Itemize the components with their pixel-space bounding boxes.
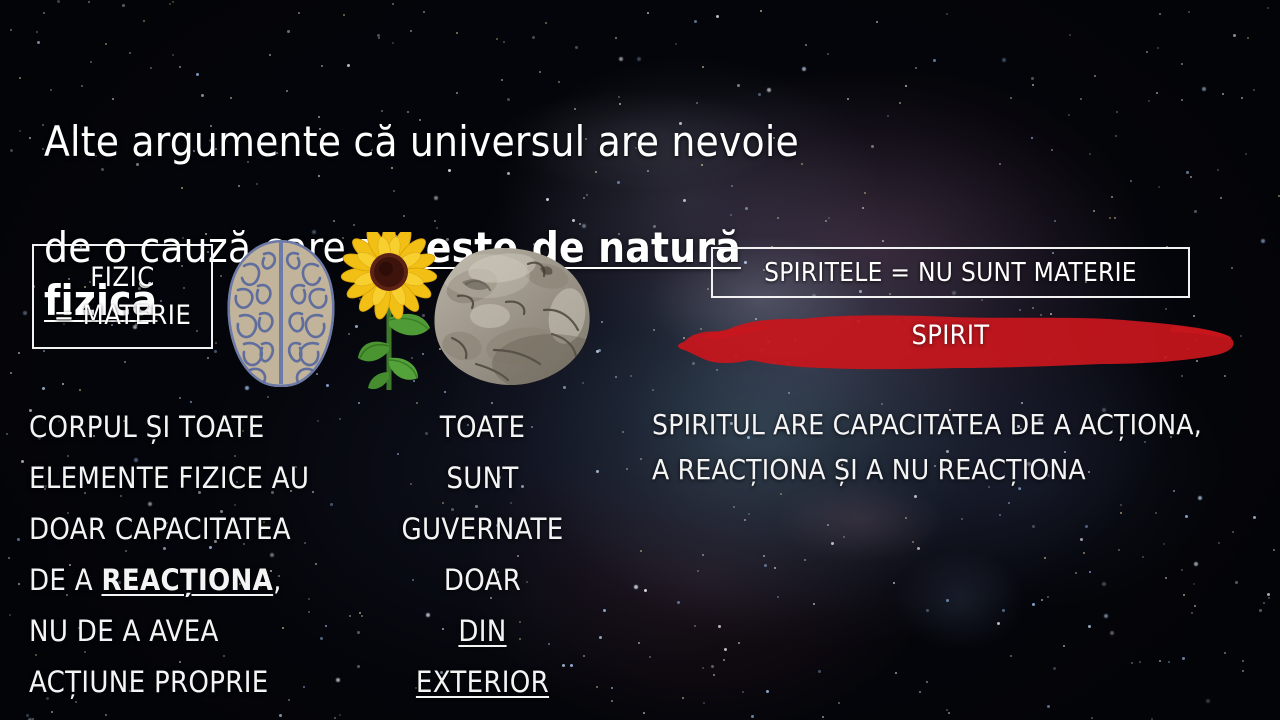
rock-image <box>432 246 598 388</box>
list-item: CORPUL ȘI TOATE <box>29 402 389 453</box>
line-suffix: , <box>273 563 282 597</box>
list-item: DOAR CAPACITATEA <box>29 504 389 555</box>
list-item: DOAR <box>390 555 575 606</box>
list-item: TOATE <box>390 402 575 453</box>
text-column-left: CORPUL ȘI TOATE ELEMENTE FIZICE AU DOAR … <box>29 402 389 708</box>
list-item: NU DE A AVEA <box>29 606 389 657</box>
box-fizic-line-2: = MATERIE <box>54 297 192 335</box>
title-line-1: Alte argumente că universul are nevoie <box>44 117 799 166</box>
label-box-spiritele: SPIRITELE = NU SUNT MATERIE <box>711 247 1190 298</box>
list-item: ACȚIUNE PROPRIE <box>29 657 389 708</box>
highlight-label-spirit: SPIRIT <box>711 320 1190 351</box>
list-item: DIN <box>390 606 575 657</box>
box-spiritele-label: SPIRITELE = NU SUNT MATERIE <box>764 258 1137 288</box>
list-item: A REACȚIONA ȘI A NU REACȚIONA <box>652 447 1252 492</box>
list-item: SUNT <box>390 453 575 504</box>
presentation-slide: Alte argumente că universul are nevoie d… <box>0 0 1280 720</box>
list-item: ELEMENTE FIZICE AU <box>29 453 389 504</box>
text-column-center: TOATE SUNT GUVERNATE DOAR DIN EXTERIOR <box>390 402 575 708</box>
list-item: EXTERIOR <box>390 657 575 708</box>
starfield-bright <box>0 0 4 4</box>
line-prefix: DE A <box>29 563 102 597</box>
sunflower-image <box>338 232 443 394</box>
list-item: DE A REACȚIONA, <box>29 555 389 606</box>
box-fizic-line-1: FIZIC <box>90 259 154 297</box>
label-box-fizic: FIZIC = MATERIE <box>32 244 213 349</box>
text-column-right: SPIRITUL ARE CAPACITATEA DE A ACȚIONA, A… <box>652 402 1252 492</box>
list-item: SPIRITUL ARE CAPACITATEA DE A ACȚIONA, <box>652 402 1252 447</box>
line-emphasis-reactiona: REACȚIONA <box>102 563 274 597</box>
brain-image <box>220 238 342 388</box>
list-item: GUVERNATE <box>390 504 575 555</box>
line-emphasis-exterior: EXTERIOR <box>416 665 549 699</box>
line-emphasis-din: DIN <box>458 614 506 648</box>
